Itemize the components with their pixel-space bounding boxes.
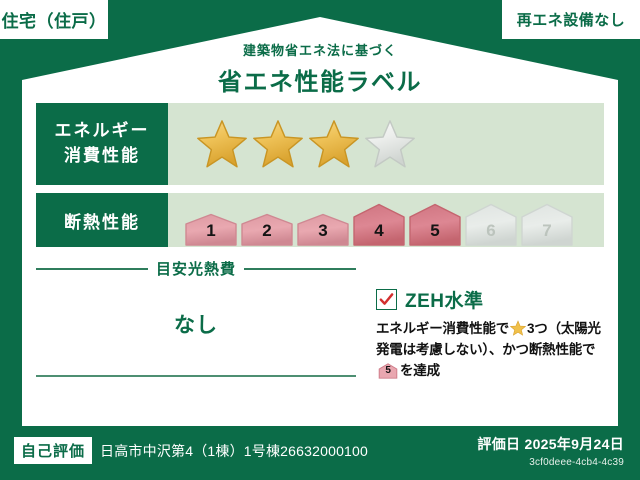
row-energy-label-line1: エネルギー	[55, 121, 150, 140]
badge-building-type-label: 住宅（住戸）	[2, 7, 107, 32]
energy-label-card: 住宅（住戸） 再エネ設備なし 建築物省エネ法に基づく 省エネ性能ラベル エネルギ…	[0, 0, 640, 480]
star-icon	[252, 119, 304, 169]
insulation-grade-value: 7	[520, 221, 574, 241]
check-icon	[376, 289, 397, 310]
zeh-desc-part3: を達成	[400, 363, 440, 378]
performance-rows: エネルギー 消費性能 断熱性能 1234567	[36, 103, 604, 255]
star-icon	[196, 119, 248, 169]
insulation-grade-scale: 1234567	[168, 193, 574, 247]
evaluation-date: 評価日 2025年9月24日	[477, 434, 624, 454]
heading-rule-right	[244, 268, 356, 270]
zeh-title-line: ZEH水準	[376, 286, 604, 313]
row-insulation-label: 断熱性能	[36, 193, 168, 247]
star-icon	[364, 119, 416, 169]
insulation-grade-icon: 5	[378, 363, 398, 379]
zeh-desc-part1: エネルギー消費性能で	[376, 321, 509, 336]
row-energy-value	[168, 103, 604, 185]
row-insulation-label-text: 断熱性能	[64, 208, 140, 233]
insulation-grade-value: 5	[408, 221, 462, 241]
badge-renewable-energy: 再エネ設備なし	[502, 0, 640, 39]
insulation-grade-1: 1	[184, 213, 238, 247]
badge-building-type: 住宅（住戸）	[0, 0, 108, 39]
insulation-grade-6: 6	[464, 203, 518, 247]
row-insulation-performance: 断熱性能 1234567	[36, 193, 604, 247]
insulation-grade-5: 5	[408, 203, 462, 247]
heading-rule-left	[36, 268, 148, 270]
insulation-grade-value: 6	[464, 221, 518, 241]
insulation-grade-4: 4	[352, 203, 406, 247]
footer: 自己評価 日高市中沢第4（1棟）1号棟26632000100 評価日 2025年…	[0, 426, 640, 480]
star-icon	[308, 119, 360, 169]
zeh-title: ZEH水準	[405, 286, 484, 313]
title-subtitle: 建築物省エネ法に基づく	[0, 40, 640, 59]
insulation-grade-2: 2	[240, 213, 294, 247]
zeh-section: ZEH水準 エネルギー消費性能で 3つ（太陽光発電は考慮しない）、かつ断熱性能で…	[356, 258, 604, 382]
footer-right: 評価日 2025年9月24日 3cf0deee-4cb4-4c39	[477, 434, 624, 468]
utility-cost-section: 目安光熱費 なし	[36, 258, 356, 382]
property-address: 日高市中沢第4（1棟）1号棟26632000100	[100, 441, 368, 461]
insulation-grade-icon-value: 5	[378, 363, 398, 379]
insulation-grade-value: 2	[240, 221, 294, 241]
badge-renewable-energy-label: 再エネ設備なし	[517, 9, 626, 30]
insulation-grade-value: 3	[296, 221, 350, 241]
insulation-grade-value: 1	[184, 221, 238, 241]
title-main: 省エネ性能ラベル	[0, 62, 640, 97]
row-insulation-value: 1234567	[168, 193, 604, 247]
document-hash: 3cf0deee-4cb4-4c39	[477, 457, 624, 468]
footer-left: 自己評価 日高市中沢第4（1棟）1号棟26632000100	[14, 437, 368, 464]
utility-cost-divider	[36, 375, 356, 377]
utility-cost-value: なし	[36, 309, 356, 339]
insulation-grade-3: 3	[296, 213, 350, 247]
page-title: 建築物省エネ法に基づく 省エネ性能ラベル	[0, 40, 640, 97]
bottom-panel: 目安光熱費 なし ZEH水準 エネルギー消費性能で 3	[36, 258, 604, 382]
row-energy-performance: エネルギー 消費性能	[36, 103, 604, 185]
row-energy-label: エネルギー 消費性能	[36, 103, 168, 185]
self-evaluation-badge: 自己評価	[14, 437, 92, 464]
utility-cost-heading-text: 目安光熱費	[156, 258, 236, 279]
zeh-description: エネルギー消費性能で 3つ（太陽光発電は考慮しない）、かつ断熱性能で 5 を達成	[376, 319, 604, 382]
insulation-grade-value: 4	[352, 221, 406, 241]
utility-cost-heading: 目安光熱費	[36, 258, 356, 279]
star-icon	[510, 320, 526, 336]
star-rating	[168, 119, 416, 169]
row-energy-label-line2: 消費性能	[64, 146, 140, 165]
insulation-grade-7: 7	[520, 203, 574, 247]
